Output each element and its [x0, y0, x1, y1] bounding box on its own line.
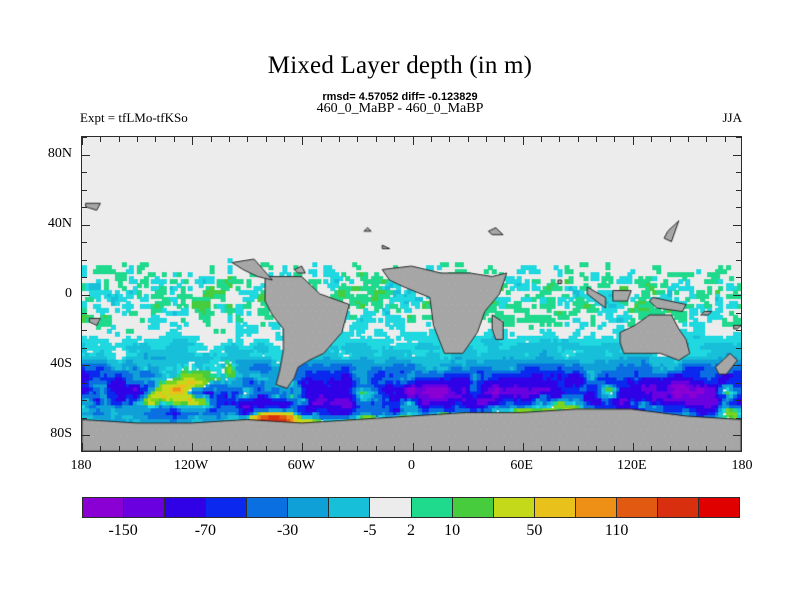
axis-tick	[688, 446, 689, 451]
axis-tick	[82, 348, 87, 349]
axis-tick	[82, 365, 90, 366]
axis-tick	[614, 446, 615, 451]
axis-tick	[82, 295, 90, 296]
axis-tick	[82, 443, 83, 451]
axis-tick	[82, 383, 87, 384]
axis-tick	[82, 418, 87, 419]
axis-tick	[431, 137, 432, 142]
axis-tick	[559, 137, 560, 142]
colorbar-label-0: -150	[108, 522, 137, 540]
axis-tick	[736, 242, 741, 243]
x-axis-label-5: 120E	[617, 458, 647, 474]
axis-tick	[688, 137, 689, 142]
axis-tick	[211, 137, 212, 142]
axis-tick	[504, 137, 505, 142]
axis-tick	[119, 446, 120, 451]
x-axis-label-2: 60W	[288, 458, 315, 474]
colorbar-segment-8	[412, 498, 453, 517]
axis-tick	[486, 137, 487, 142]
axis-tick	[651, 446, 652, 451]
axis-tick	[357, 446, 358, 451]
colorbar-label-1: -70	[195, 522, 216, 540]
axis-tick	[633, 443, 634, 451]
axis-tick	[736, 330, 741, 331]
axis-tick	[266, 446, 267, 451]
axis-tick	[468, 446, 469, 451]
axis-tick	[670, 137, 671, 142]
colorbar-segment-3	[206, 498, 247, 517]
axis-tick	[706, 137, 707, 142]
colorbar-segment-0	[83, 498, 124, 517]
axis-tick	[578, 446, 579, 451]
axis-tick	[733, 155, 741, 156]
axis-tick	[321, 137, 322, 142]
axis-tick	[82, 330, 87, 331]
colorbar-segment-11	[535, 498, 576, 517]
axis-tick	[82, 260, 87, 261]
axis-tick	[431, 446, 432, 451]
axis-tick	[725, 137, 726, 142]
axis-tick	[82, 190, 87, 191]
axis-tick	[504, 446, 505, 451]
axis-tick	[736, 207, 741, 208]
axis-tick	[119, 137, 120, 142]
axis-tick	[284, 137, 285, 142]
axis-tick	[736, 190, 741, 191]
colorbar	[82, 497, 740, 518]
axis-tick	[736, 277, 741, 278]
axis-tick	[357, 137, 358, 142]
axis-tick	[733, 435, 741, 436]
axis-tick	[541, 137, 542, 142]
axis-tick	[284, 446, 285, 451]
axis-tick	[394, 137, 395, 142]
axis-tick	[633, 137, 634, 145]
axis-tick	[174, 446, 175, 451]
x-axis-label-3: 0	[408, 458, 415, 474]
season-label: JJA	[722, 110, 742, 126]
axis-tick	[155, 446, 156, 451]
map-raster	[82, 137, 741, 451]
axis-tick	[449, 137, 450, 142]
x-axis-label-0: 180	[71, 458, 92, 474]
colorbar-label-5: 10	[444, 522, 460, 540]
axis-tick	[706, 446, 707, 451]
axis-tick	[211, 446, 212, 451]
axis-tick	[614, 137, 615, 142]
colorbar-label-7: 110	[605, 522, 628, 540]
axis-tick	[376, 446, 377, 451]
axis-tick	[394, 446, 395, 451]
colorbar-segment-4	[247, 498, 288, 517]
colorbar-label-4: 2	[407, 522, 415, 540]
axis-tick	[266, 137, 267, 142]
axis-tick	[82, 277, 87, 278]
experiment-label: Expt = tfLMo-tfKSo	[80, 110, 188, 126]
axis-tick	[229, 446, 230, 451]
axis-tick	[670, 446, 671, 451]
x-axis-label-1: 120W	[174, 458, 208, 474]
axis-tick	[736, 313, 741, 314]
axis-tick	[523, 137, 524, 145]
colorbar-segment-12	[576, 498, 617, 517]
axis-tick	[247, 446, 248, 451]
y-axis-label-3: 40S	[26, 356, 72, 372]
axis-tick	[559, 446, 560, 451]
axis-tick	[736, 418, 741, 419]
axis-tick	[413, 137, 414, 145]
axis-tick	[736, 400, 741, 401]
axis-tick	[376, 137, 377, 142]
axis-tick	[192, 443, 193, 451]
axis-tick	[229, 137, 230, 142]
axis-tick	[82, 155, 90, 156]
axis-tick	[82, 313, 87, 314]
axis-tick	[578, 137, 579, 142]
axis-tick	[82, 172, 87, 173]
y-axis-label-2: 0	[26, 286, 72, 302]
axis-tick	[733, 365, 741, 366]
colorbar-segment-14	[658, 498, 699, 517]
axis-tick	[302, 443, 303, 451]
axis-tick	[155, 137, 156, 142]
axis-tick	[247, 137, 248, 142]
colorbar-label-3: -5	[363, 522, 376, 540]
colorbar-label-6: 50	[526, 522, 542, 540]
axis-tick	[596, 446, 597, 451]
axis-tick	[137, 137, 138, 142]
colorbar-segment-6	[329, 498, 370, 517]
axis-tick	[541, 446, 542, 451]
colorbar-segment-13	[617, 498, 658, 517]
axis-tick	[82, 435, 90, 436]
colorbar-label-2: -30	[277, 522, 298, 540]
axis-tick	[82, 207, 87, 208]
axis-tick	[523, 443, 524, 451]
axis-tick	[468, 137, 469, 142]
axis-tick	[82, 225, 90, 226]
axis-tick	[100, 446, 101, 451]
colorbar-segment-7	[370, 498, 411, 517]
colorbar-segment-15	[699, 498, 739, 517]
x-axis-label-6: 180	[732, 458, 753, 474]
axis-tick	[82, 137, 83, 145]
colorbar-segment-2	[165, 498, 206, 517]
axis-tick	[736, 383, 741, 384]
axis-tick	[174, 137, 175, 142]
axis-tick	[413, 443, 414, 451]
colorbar-segment-1	[124, 498, 165, 517]
axis-tick	[100, 137, 101, 142]
map-plot-area	[81, 136, 742, 452]
axis-tick	[339, 137, 340, 142]
y-axis-label-0: 80N	[26, 146, 72, 162]
axis-tick	[736, 172, 741, 173]
axis-tick	[733, 295, 741, 296]
colorbar-segment-9	[453, 498, 494, 517]
axis-tick	[596, 137, 597, 142]
axis-tick	[736, 348, 741, 349]
y-axis-label-4: 80S	[26, 426, 72, 442]
figure-title: Mixed Layer depth (in m)	[0, 52, 800, 80]
axis-tick	[192, 137, 193, 145]
axis-tick	[302, 137, 303, 145]
axis-tick	[82, 137, 87, 138]
axis-tick	[137, 446, 138, 451]
axis-tick	[449, 446, 450, 451]
y-axis-label-1: 40N	[26, 216, 72, 232]
axis-tick	[736, 260, 741, 261]
colorbar-segment-10	[494, 498, 535, 517]
axis-tick	[733, 225, 741, 226]
axis-tick	[321, 446, 322, 451]
axis-tick	[651, 137, 652, 142]
axis-tick	[339, 446, 340, 451]
figure-canvas: Mixed Layer depth (in m) rmsd= 4.57052 d…	[0, 0, 800, 600]
axis-tick	[725, 446, 726, 451]
axis-tick	[736, 137, 741, 138]
axis-tick	[82, 242, 87, 243]
colorbar-segment-5	[288, 498, 329, 517]
axis-tick	[486, 446, 487, 451]
axis-tick	[82, 400, 87, 401]
x-axis-label-4: 60E	[510, 458, 533, 474]
